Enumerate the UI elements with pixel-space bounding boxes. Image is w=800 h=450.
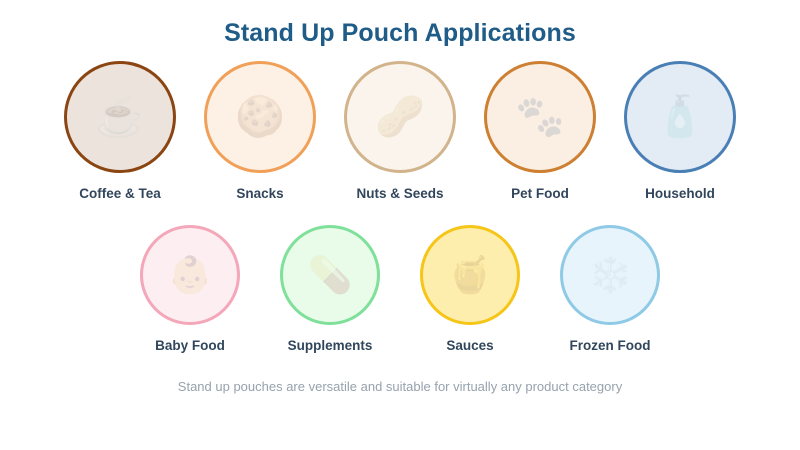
category-baby-food[interactable]: 👶Baby Food [140,225,240,353]
spray-bottle-icon: 🧴 [655,97,705,137]
category-bubble[interactable]: ❄️ [560,225,660,325]
baby-face-icon: 👶 [168,257,213,293]
category-label: Supplements [288,338,373,353]
category-bubble[interactable]: 🍪 [204,61,316,173]
page-title: Stand Up Pouch Applications [224,0,576,48]
category-bubble[interactable]: 🐾 [484,61,596,173]
category-label: Snacks [236,186,283,201]
category-supplements[interactable]: 💊Supplements [280,225,380,353]
category-frozen-food[interactable]: ❄️Frozen Food [560,225,660,353]
category-row-secondary: 👶Baby Food💊Supplements🍯Sauces❄️Frozen Fo… [140,225,660,353]
category-grid: ☕Coffee & Tea🍪Snacks🥜Nuts & Seeds🐾Pet Fo… [0,61,800,353]
category-nuts-seeds[interactable]: 🥜Nuts & Seeds [344,61,456,201]
category-row-primary: ☕Coffee & Tea🍪Snacks🥜Nuts & Seeds🐾Pet Fo… [64,61,736,201]
category-label: Pet Food [511,186,569,201]
category-label: Frozen Food [570,338,651,353]
category-label: Coffee & Tea [79,186,161,201]
peanut-icon: 🥜 [375,97,425,137]
category-coffee-tea[interactable]: ☕Coffee & Tea [64,61,176,201]
category-label: Sauces [446,338,493,353]
category-bubble[interactable]: 💊 [280,225,380,325]
coffee-cup-icon: ☕ [95,97,145,137]
category-bubble[interactable]: ☕ [64,61,176,173]
category-bubble[interactable]: 👶 [140,225,240,325]
cookie-icon: 🍪 [235,97,285,137]
snowflake-icon: ❄️ [588,257,633,293]
infographic-canvas: Stand Up Pouch Applications ☕Coffee & Te… [0,0,800,450]
category-label: Baby Food [155,338,225,353]
paw-print-icon: 🐾 [515,97,565,137]
category-bubble[interactable]: 🥜 [344,61,456,173]
pill-icon: 💊 [308,257,353,293]
category-label: Household [645,186,715,201]
footer-note: Stand up pouches are versatile and suita… [178,379,622,394]
category-household[interactable]: 🧴Household [624,61,736,201]
category-bubble[interactable]: 🍯 [420,225,520,325]
category-label: Nuts & Seeds [356,186,443,201]
category-snacks[interactable]: 🍪Snacks [204,61,316,201]
category-sauces[interactable]: 🍯Sauces [420,225,520,353]
honey-pot-icon: 🍯 [448,257,493,293]
category-pet-food[interactable]: 🐾Pet Food [484,61,596,201]
category-bubble[interactable]: 🧴 [624,61,736,173]
